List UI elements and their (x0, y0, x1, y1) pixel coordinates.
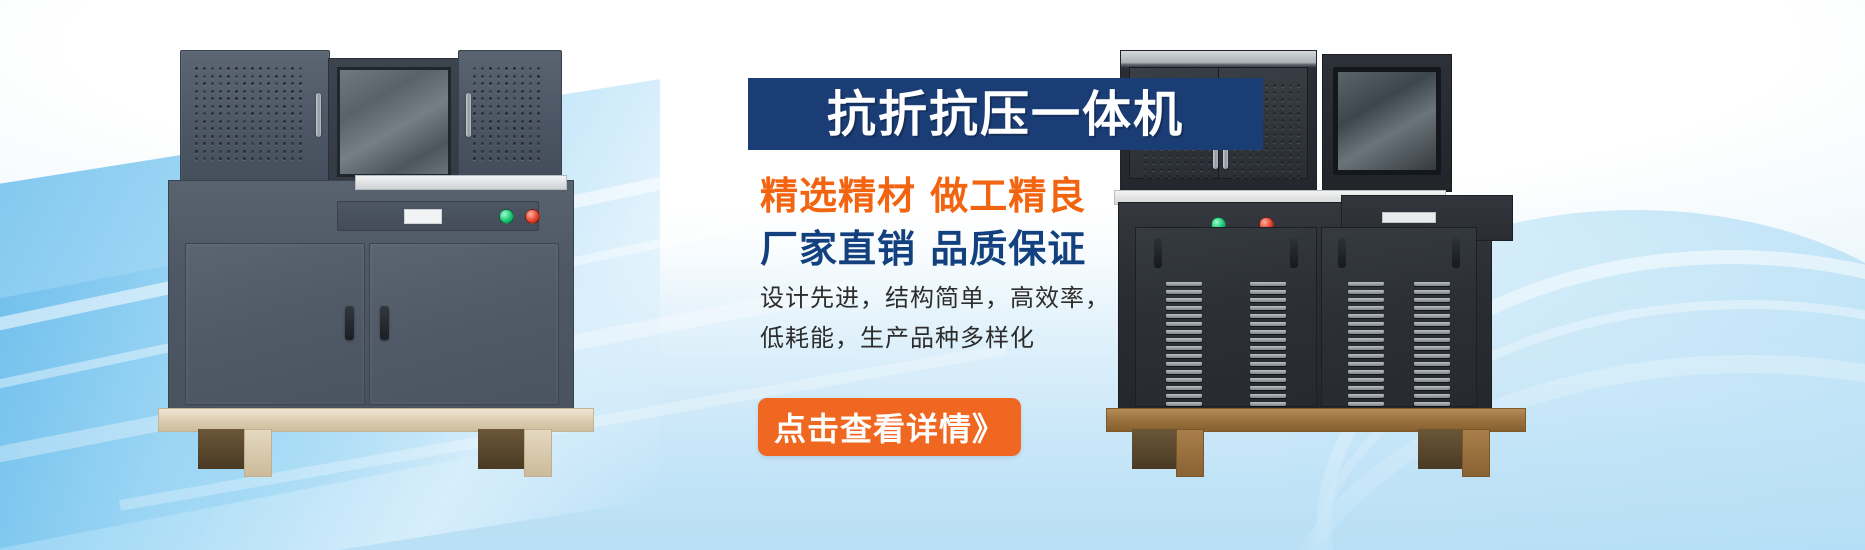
subheadline-orange: 精选精材 做工精良 (760, 165, 1280, 220)
door-handle (345, 306, 354, 340)
description-line-2: 低耗能，生产品种多样化 (760, 318, 1280, 358)
view-details-button-label: 点击查看详情》 (774, 404, 1005, 450)
pallet-shadow (478, 429, 526, 469)
perforated-panel-icon (473, 67, 535, 165)
right-machine-label-plate (1382, 212, 1436, 223)
right-machine-door-right (1321, 227, 1477, 407)
left-machine-monitor-housing (328, 58, 460, 188)
indicator-light-green (499, 209, 514, 224)
page-title: 抗折抗压一体机 (827, 90, 1184, 139)
ventilation-louver (1348, 282, 1384, 410)
left-machine-ledge (355, 175, 567, 190)
promo-text-column: 抗折抗压一体机 精选精材 做工精良 厂家直销 品质保证 设计先进，结构简单，高效… (612, 0, 1312, 550)
right-machine-monitor-housing (1322, 54, 1452, 192)
left-machine-top-left-cabinet (180, 50, 330, 182)
right-machine-screen (1333, 67, 1441, 175)
left-machine-screen (337, 67, 451, 177)
left-machine-door-left (185, 243, 365, 405)
pallet-leg (1462, 429, 1490, 477)
product-promo-banner: 抗折抗压一体机 精选精材 做工精良 厂家直销 品质保证 设计先进，结构简单，高效… (0, 0, 1865, 550)
pallet-shadow (1418, 429, 1464, 469)
description-line-1: 设计先进，结构简单，高效率， (760, 278, 1280, 318)
door-handle (380, 306, 389, 340)
indicator-light-red (525, 209, 540, 224)
left-machine-label-plate (404, 209, 442, 224)
left-machine-door-right (369, 243, 559, 405)
pallet-leg (524, 429, 552, 477)
pallet-shadow (198, 429, 246, 469)
headline-bar: 抗折抗压一体机 (748, 78, 1263, 150)
subheadline-navy: 厂家直销 品质保证 (760, 218, 1280, 273)
view-details-button[interactable]: 点击查看详情》 (758, 398, 1021, 456)
cabinet-handle (316, 93, 321, 137)
cabinet-handle (466, 93, 471, 137)
ventilation-louver (1414, 282, 1450, 410)
pallet-leg (244, 429, 272, 477)
perforated-panel-icon (195, 67, 303, 165)
product-image-left (140, 40, 580, 460)
door-handle (1452, 238, 1460, 268)
description-block: 设计先进，结构简单，高效率， 低耗能，生产品种多样化 (760, 278, 1280, 358)
left-machine-body (168, 180, 574, 412)
left-machine-top-right-cabinet (458, 50, 562, 182)
left-machine-pallet (158, 408, 592, 478)
door-handle (1338, 238, 1346, 268)
